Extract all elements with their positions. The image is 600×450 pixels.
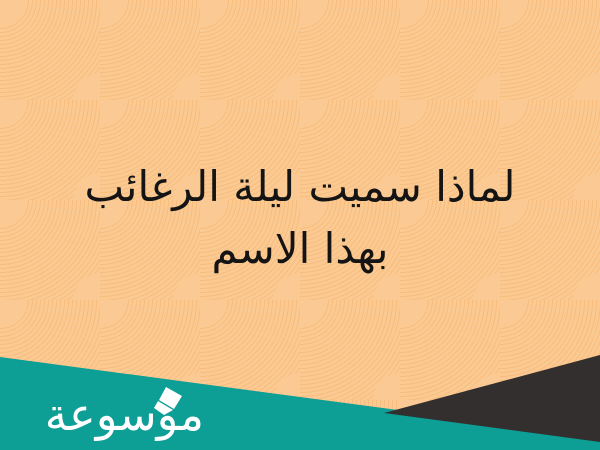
article-card: لماذا سميت ليلة الرغائب بهذا الاسم موسوع… (0, 0, 600, 450)
brand-wordmark: موسوعة (45, 392, 204, 437)
brand-logo[interactable]: موسوعة (14, 382, 204, 438)
